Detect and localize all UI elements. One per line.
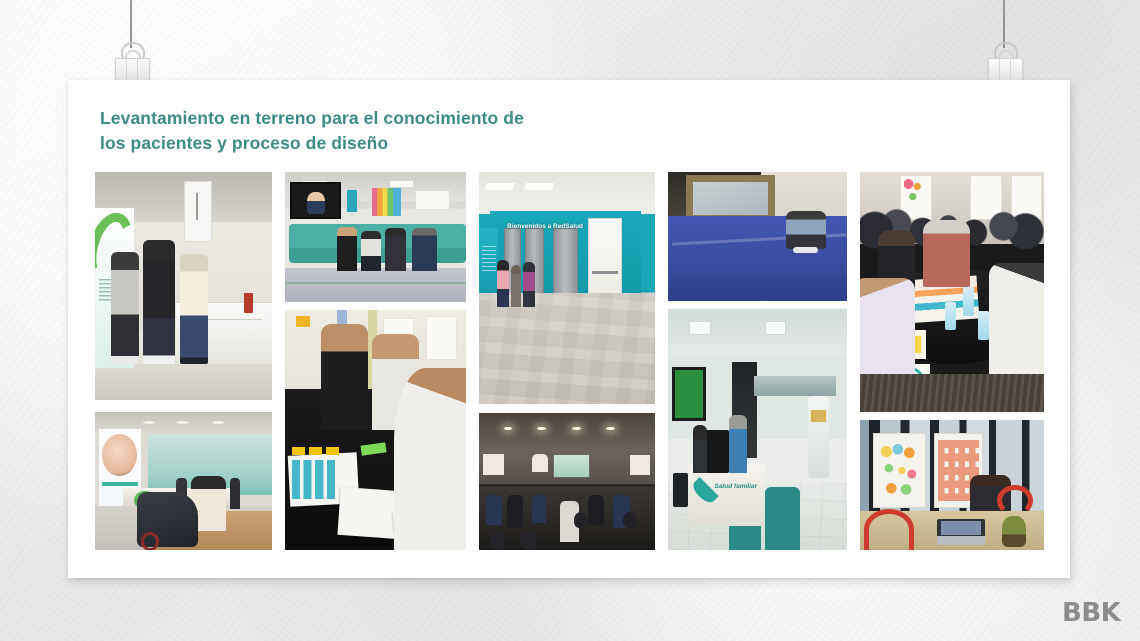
photo-artwork: Bienvenidos a RedSalud	[479, 172, 655, 404]
photo-artwork	[479, 413, 655, 550]
photo-artwork	[860, 420, 1044, 550]
page-title-line-1: Levantamiento en terreno para el conocim…	[100, 108, 524, 128]
photo-artwork	[285, 172, 466, 302]
gallery-column-1	[95, 172, 272, 550]
slide-page: Levantamiento en terreno para el conocim…	[68, 80, 1070, 578]
photo-artwork	[285, 310, 466, 550]
binder-clip-left	[108, 0, 154, 86]
photo-artwork	[668, 172, 847, 301]
photo-gallery-grid: Bienvenidos a RedSalud	[95, 172, 1048, 550]
photo-boards-postits[interactable]	[860, 420, 1044, 550]
photo-lobby-stroller[interactable]	[95, 412, 272, 550]
binder-clip-right	[981, 0, 1027, 86]
gallery-column-5	[860, 172, 1044, 550]
page-title: Levantamiento en terreno para el conocim…	[100, 106, 740, 156]
gallery-column-4: Salud familiar	[668, 172, 847, 550]
photo-reception-counter[interactable]	[95, 172, 272, 400]
clip-wire	[1003, 0, 1005, 48]
photo-salud-familiar-desk[interactable]: Salud familiar	[668, 309, 847, 550]
photo-elevator-hall[interactable]: Bienvenidos a RedSalud	[479, 172, 655, 404]
photo-blue-carpet-corridor[interactable]	[668, 172, 847, 301]
photo-artwork	[95, 172, 272, 400]
photo-workshop-table[interactable]	[285, 310, 466, 550]
page-title-line-2: los pacientes y proceso de diseño	[100, 131, 740, 156]
photo-artwork: Salud familiar	[668, 309, 847, 550]
photo-artwork	[860, 172, 1044, 412]
gallery-column-3: Bienvenidos a RedSalud	[479, 172, 655, 550]
photo-waiting-room[interactable]	[285, 172, 466, 302]
clip-wire	[130, 0, 132, 48]
photo-round-table-workshop[interactable]	[860, 172, 1044, 412]
bbk-logo: BBK	[1062, 598, 1120, 628]
gallery-column-2	[285, 172, 466, 550]
photo-artwork	[95, 412, 272, 550]
photo-caption-salud-familiar: Salud familiar	[715, 483, 758, 490]
photo-caption-redsalud: Bienvenidos a RedSalud	[507, 223, 583, 230]
photo-auditorium-session[interactable]	[479, 413, 655, 550]
